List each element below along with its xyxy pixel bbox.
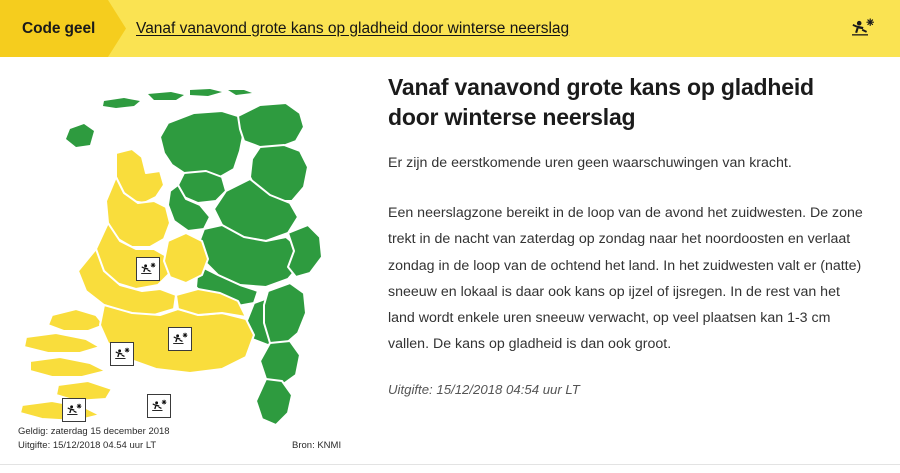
map-caption-issued: Uitgifte: 15/12/2018 04.54 uur LT (18, 439, 170, 453)
pin-noord-brabant[interactable] (147, 394, 171, 418)
pin-zeeland[interactable] (62, 398, 86, 422)
slippery-person-snowflake-icon (172, 331, 189, 348)
warning-map-panel: Geldig: zaterdag 15 december 2018 Uitgif… (0, 57, 380, 473)
slippery-person-snowflake-icon (114, 346, 131, 363)
pin-zuid-holland[interactable] (110, 342, 134, 366)
content-area: Geldig: zaterdag 15 december 2018 Uitgif… (0, 57, 900, 473)
slippery-person-snowflake-icon (848, 14, 878, 44)
alert-headline-link[interactable]: Vanaf vanavond grote kans op gladheid do… (136, 20, 569, 38)
pin-utrecht[interactable] (168, 327, 192, 351)
map-source-label: Bron: KNMI (292, 439, 341, 453)
code-level-badge: Code geel (0, 0, 126, 57)
netherlands-warning-map[interactable] (8, 61, 364, 441)
alert-bar: Code geel Vanaf vanavond grote kans op g… (0, 0, 900, 57)
article-body: Een neerslagzone bereikt in de loop van … (388, 200, 864, 358)
article-panel: Vanaf vanavond grote kans op gladheid do… (380, 57, 900, 473)
map-caption: Geldig: zaterdag 15 december 2018 Uitgif… (18, 425, 170, 453)
article-lead: Er zijn de eerstkomende uren geen waarsc… (388, 153, 864, 174)
map-caption-valid: Geldig: zaterdag 15 december 2018 (18, 425, 170, 439)
article-issued-timestamp: Uitgifte: 15/12/2018 04:54 uur LT (388, 382, 864, 397)
pin-noord-holland[interactable] (136, 257, 160, 281)
slippery-person-snowflake-icon (140, 261, 157, 278)
bottom-divider (0, 464, 900, 465)
slippery-person-snowflake-icon (151, 398, 168, 415)
code-level-label: Code geel (22, 20, 95, 38)
article-title: Vanaf vanavond grote kans op gladheid do… (388, 73, 858, 133)
slippery-person-snowflake-icon (66, 402, 83, 419)
